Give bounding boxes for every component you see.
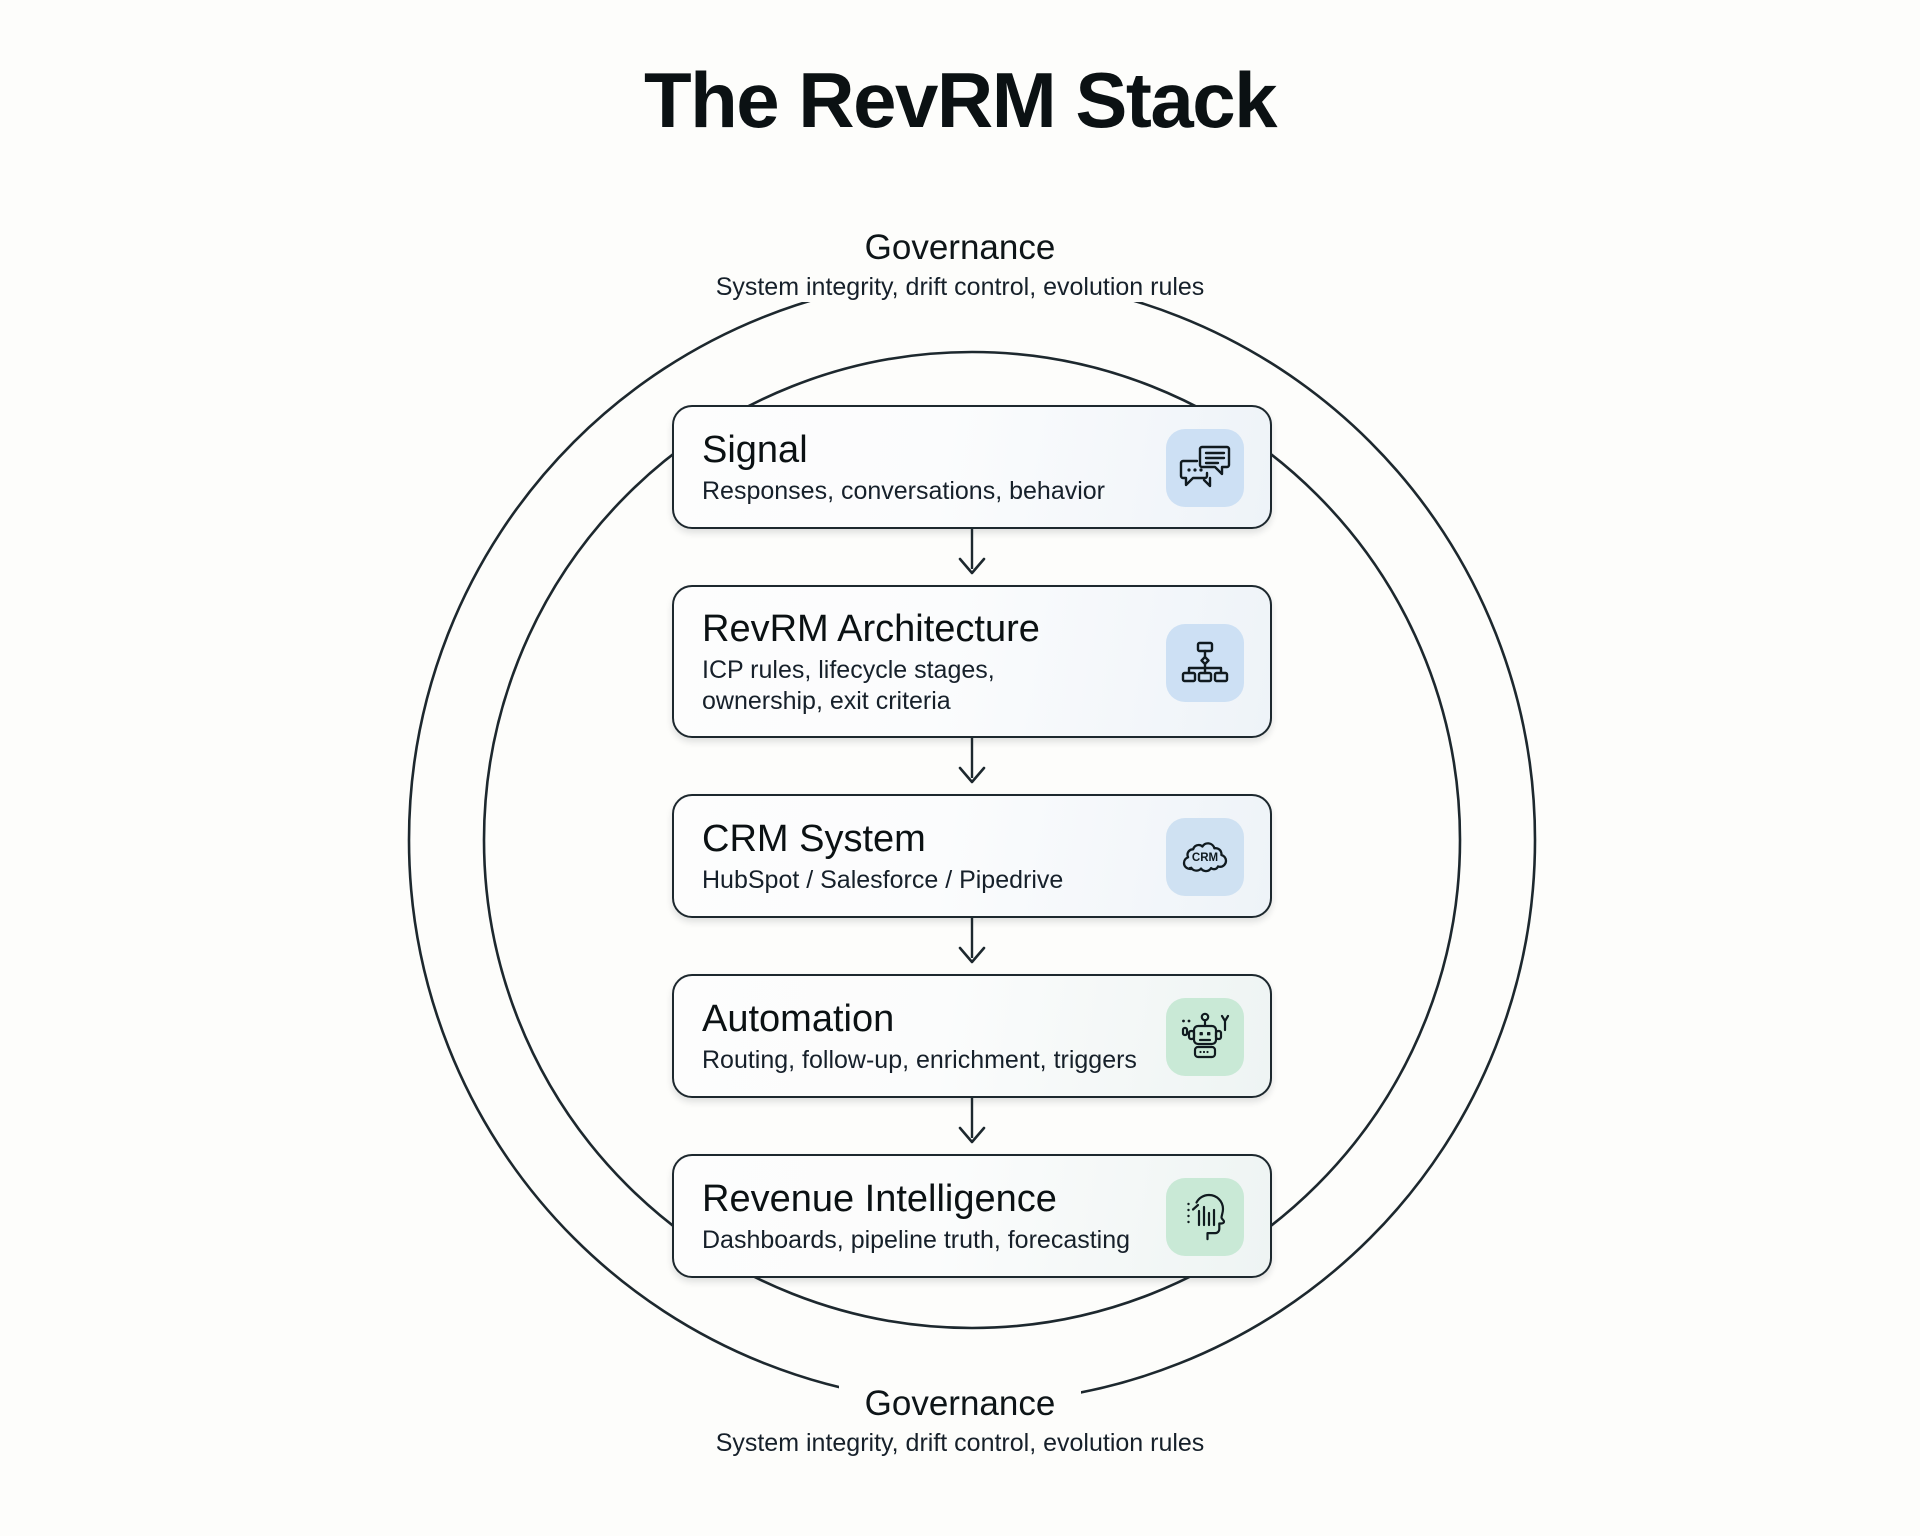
governance-bottom: Governance System integrity, drift contr… [0, 1384, 1920, 1458]
layer-description: Routing, follow-up, enrichment, triggers [702, 1045, 1137, 1076]
layer-description: Responses, conversations, behavior [702, 476, 1105, 507]
layer-title: Signal [702, 430, 1105, 471]
layer-card-revrm-architecture[interactable]: RevRM Architecture ICP rules, lifecycle … [672, 585, 1272, 738]
layer-text: Automation Routing, follow-up, enrichmen… [702, 999, 1137, 1076]
stack-layers: Signal Responses, conversations, behavio… [672, 405, 1272, 1278]
crm-icon-label: CRM [1192, 852, 1218, 864]
head-analytics-icon [1166, 1178, 1244, 1256]
governance-bottom-label: Governance [839, 1384, 1082, 1424]
governance-top: Governance System integrity, drift contr… [0, 228, 1920, 302]
layer-description: Dashboards, pipeline truth, forecasting [702, 1225, 1130, 1256]
connector-signal-to-architecture [672, 529, 1272, 585]
layer-text: Revenue Intelligence Dashboards, pipelin… [702, 1179, 1130, 1256]
layer-description: ICP rules, lifecycle stages, ownership, … [702, 655, 1040, 716]
layer-title: CRM System [702, 819, 1063, 860]
layer-title: RevRM Architecture [702, 609, 1040, 650]
governance-top-description: System integrity, drift control, evoluti… [696, 272, 1225, 302]
layer-title: Revenue Intelligence [702, 1179, 1130, 1220]
connector-crm-to-automation [672, 918, 1272, 974]
governance-bottom-description: System integrity, drift control, evoluti… [696, 1428, 1225, 1458]
connector-automation-to-revenue-intelligence [672, 1098, 1272, 1154]
layer-title: Automation [702, 999, 1137, 1040]
layer-description: HubSpot / Salesforce / Pipedrive [702, 865, 1063, 896]
speech-bubbles-icon [1166, 429, 1244, 507]
crm-cloud-icon: CRM [1166, 818, 1244, 896]
layer-card-crm-system[interactable]: CRM System HubSpot / Salesforce / Pipedr… [672, 794, 1272, 918]
layer-card-signal[interactable]: Signal Responses, conversations, behavio… [672, 405, 1272, 529]
hierarchy-icon [1166, 624, 1244, 702]
governance-top-label: Governance [839, 228, 1082, 268]
layer-card-automation[interactable]: Automation Routing, follow-up, enrichmen… [672, 974, 1272, 1098]
diagram-canvas: The RevRM Stack Governance System integr… [0, 0, 1920, 1536]
robot-icon [1166, 998, 1244, 1076]
layer-text: RevRM Architecture ICP rules, lifecycle … [702, 609, 1040, 716]
layer-text: CRM System HubSpot / Salesforce / Pipedr… [702, 819, 1063, 896]
connector-architecture-to-crm [672, 738, 1272, 794]
layer-card-revenue-intelligence[interactable]: Revenue Intelligence Dashboards, pipelin… [672, 1154, 1272, 1278]
layer-text: Signal Responses, conversations, behavio… [702, 430, 1105, 507]
